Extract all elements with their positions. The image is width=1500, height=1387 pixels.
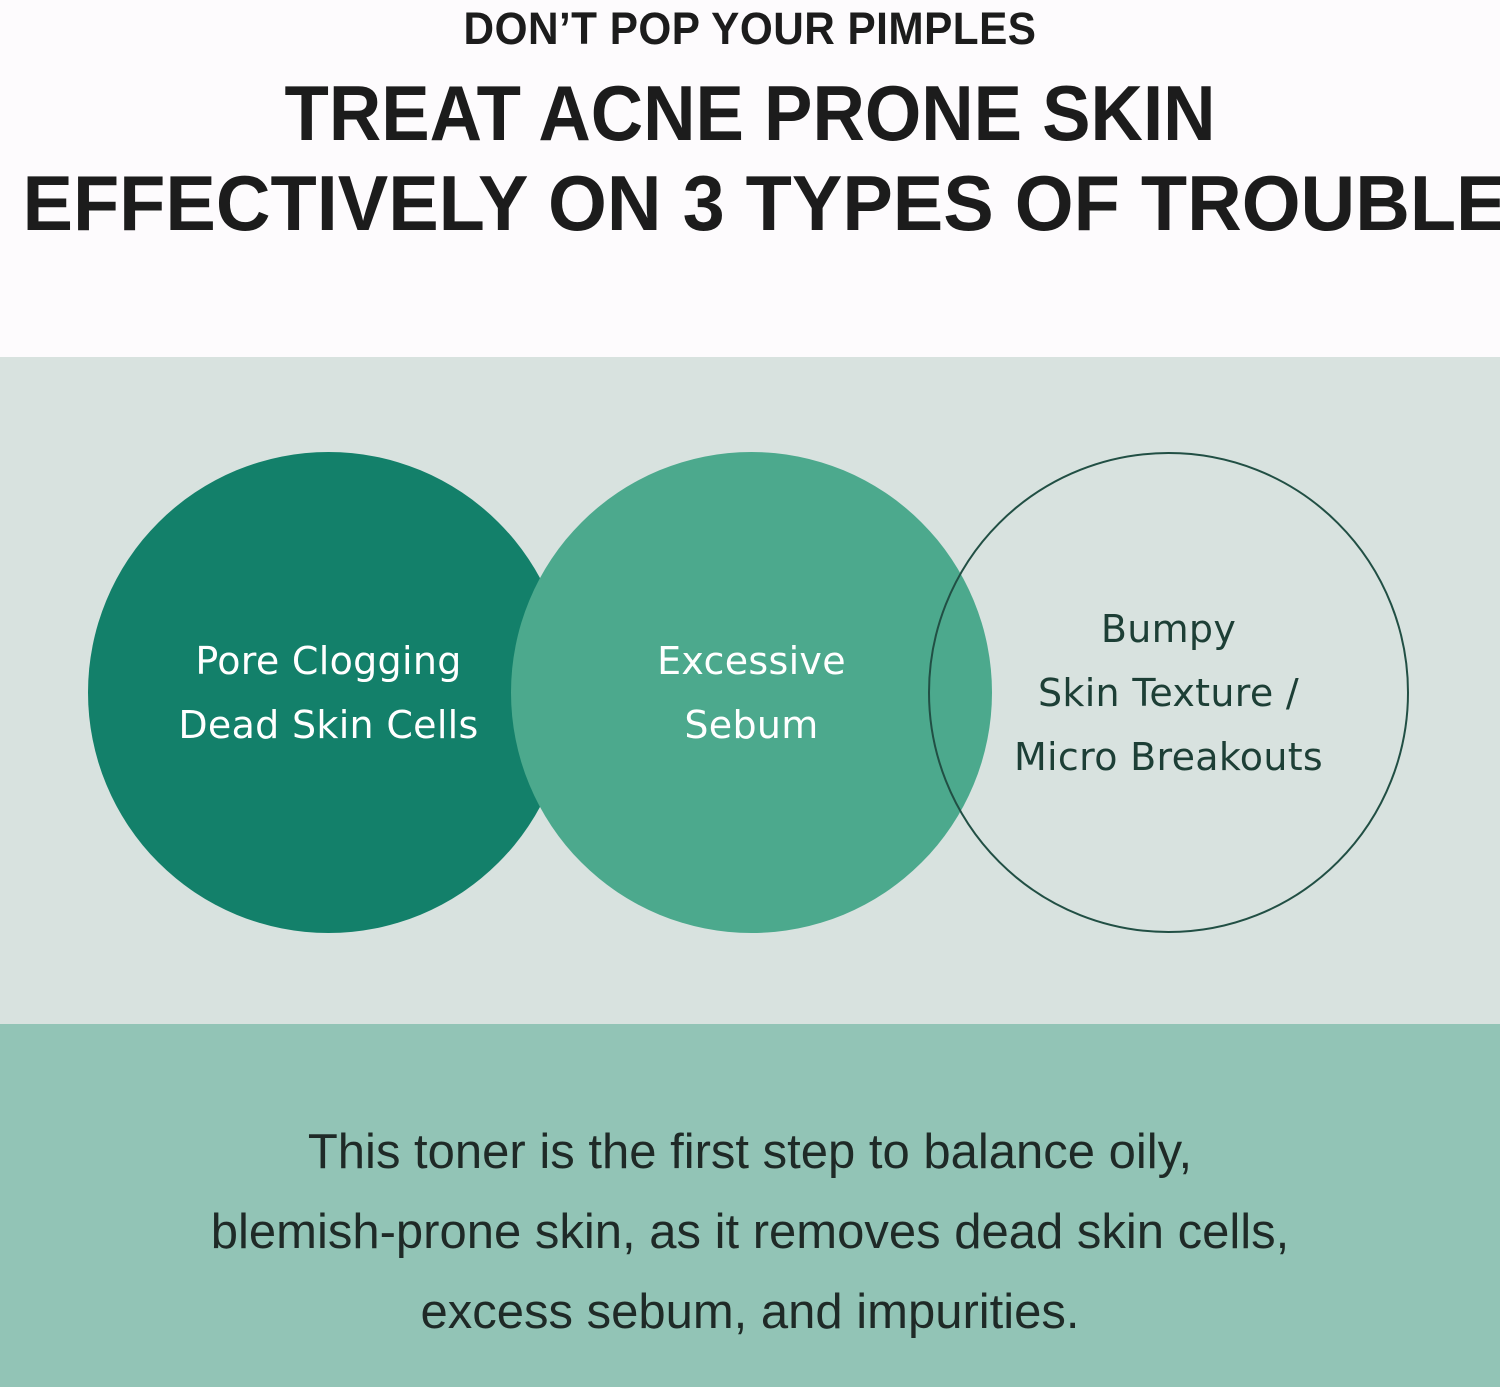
eyebrow-text: DON’T POP YOUR PIMPLES <box>45 2 1455 56</box>
venn-circle-label-bumpy-skin-texture: Bumpy Skin Texture / Micro Breakouts <box>1014 597 1323 789</box>
headline-line-1: TREAT ACNE PRONE SKIN <box>53 68 1448 158</box>
venn-circle-pore-clogging: Pore Clogging Dead Skin Cells <box>88 452 569 933</box>
header-section: DON’T POP YOUR PIMPLES TREAT ACNE PRONE … <box>0 0 1500 357</box>
headline-line-2: EFFECTIVELY ON 3 TYPES OF TROUBLE <box>23 158 1478 248</box>
venn-circle-excessive-sebum: Excessive Sebum <box>511 452 992 933</box>
venn-circle-bumpy-skin-texture: Bumpy Skin Texture / Micro Breakouts <box>928 452 1409 933</box>
venn-circle-label-excessive-sebum: Excessive Sebum <box>657 629 846 757</box>
venn-diagram-section: Pore Clogging Dead Skin Cells Excessive … <box>0 357 1500 1024</box>
footer-section: This toner is the first step to balance … <box>0 1024 1500 1387</box>
footer-paragraph: This toner is the first step to balance … <box>120 1112 1380 1352</box>
infographic-page: DON’T POP YOUR PIMPLES TREAT ACNE PRONE … <box>0 0 1500 1387</box>
venn-circle-label-pore-clogging: Pore Clogging Dead Skin Cells <box>178 629 478 757</box>
